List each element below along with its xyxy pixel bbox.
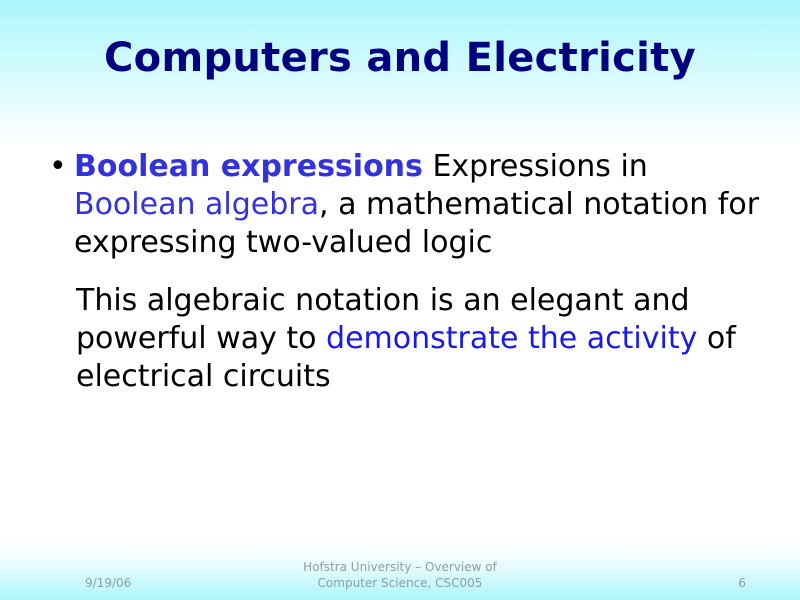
slide-canvas: Computers and Electricity •Boolean expre… bbox=[0, 0, 800, 600]
footer-page-number: 6 bbox=[700, 575, 746, 591]
bullet-term-boolean-expressions: Boolean expressions bbox=[74, 149, 423, 184]
paragraph-highlight: demonstrate the activity bbox=[326, 321, 697, 356]
bullet-item: •Boolean expressions Expressions in Bool… bbox=[40, 148, 762, 262]
slide-body: •Boolean expressions Expressions in Bool… bbox=[40, 148, 762, 396]
page-title: Computers and Electricity bbox=[0, 34, 800, 82]
body-paragraph: This algebraic notation is an elegant an… bbox=[40, 282, 762, 396]
bullet-term-boolean-algebra: Boolean algebra bbox=[74, 187, 319, 222]
footer-center-text: Hofstra University – Overview of Compute… bbox=[240, 559, 560, 591]
slide-footer: 9/19/06 Hofstra University – Overview of… bbox=[0, 556, 800, 600]
footer-center-line2: Computer Science, CSC005 bbox=[240, 575, 560, 591]
footer-center-line1: Hofstra University – Overview of bbox=[240, 559, 560, 575]
bullet-dot-icon: • bbox=[49, 148, 67, 186]
footer-date: 9/19/06 bbox=[85, 575, 131, 591]
bullet-definition-part1: Expressions in bbox=[423, 149, 648, 184]
